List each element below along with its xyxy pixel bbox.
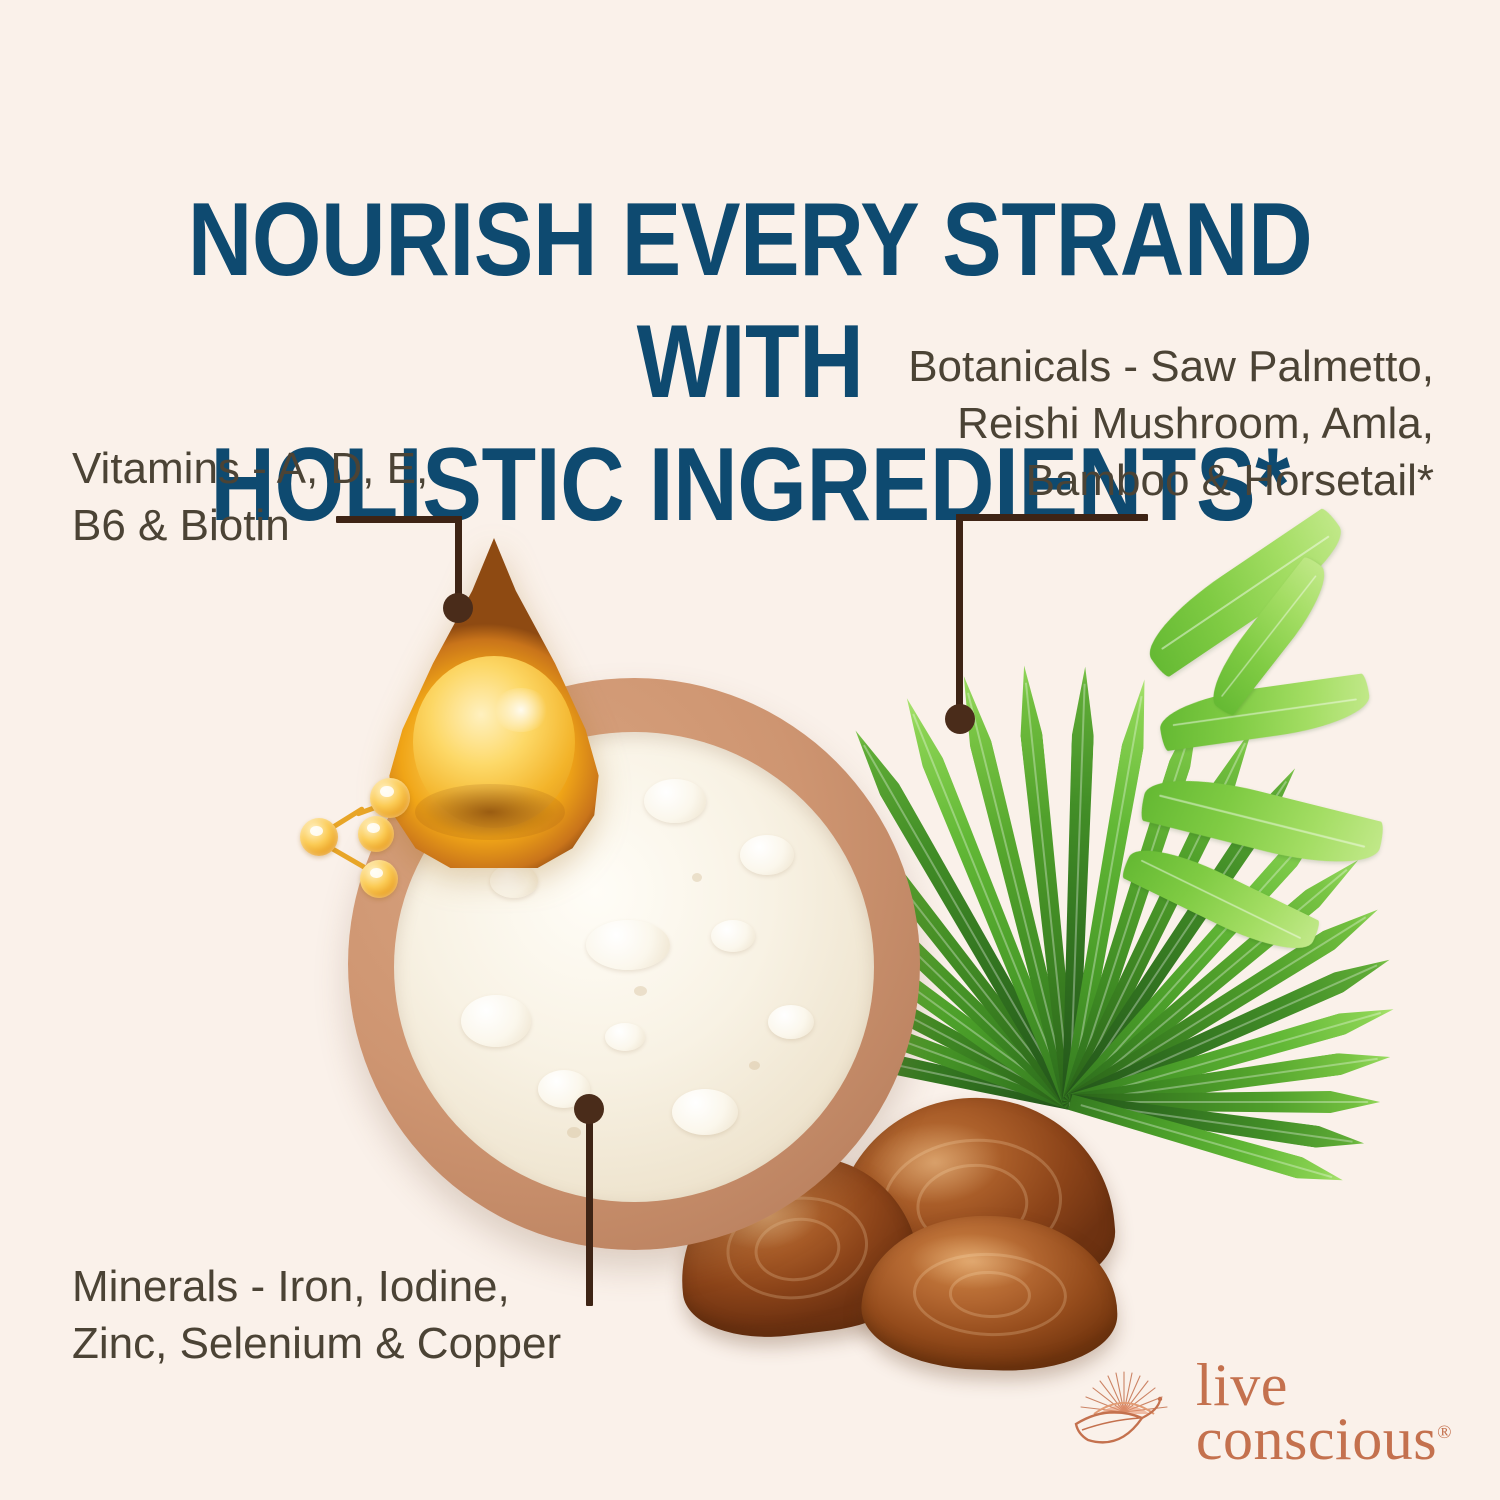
logo-word-conscious: conscious <box>1196 1406 1437 1472</box>
leader-endpoint-dot <box>574 1094 604 1124</box>
sunrise-leaf-logo-icon <box>1068 1366 1180 1458</box>
logo-text-line-1: live <box>1196 1358 1452 1412</box>
logo-text-line-2: conscious® <box>1196 1412 1452 1466</box>
callout-label-botanicals: Botanicals - Saw Palmetto, Reishi Mushro… <box>754 338 1434 510</box>
leader-endpoint-dot <box>443 593 473 623</box>
registered-trademark-symbol: ® <box>1437 1422 1452 1443</box>
callout-label-vitamins: Vitamins - A, D, E, B6 & Biotin <box>72 440 632 554</box>
brand-logo[interactable]: live conscious® <box>1068 1358 1452 1466</box>
leader-segment-vertical <box>455 516 462 604</box>
leader-segment-horizontal <box>956 514 1148 521</box>
oil-droplet-icon <box>385 538 603 868</box>
infographic-canvas: NOURISH EVERY STRAND WITH HOLISTIC INGRE… <box>0 0 1500 1500</box>
callout-label-minerals: Minerals - Iron, Iodine, Zinc, Selenium … <box>72 1258 692 1372</box>
leader-segment-vertical <box>586 1110 593 1306</box>
leader-endpoint-dot <box>945 704 975 734</box>
leader-segment-horizontal <box>336 516 462 523</box>
leader-segment-vertical <box>956 514 963 714</box>
